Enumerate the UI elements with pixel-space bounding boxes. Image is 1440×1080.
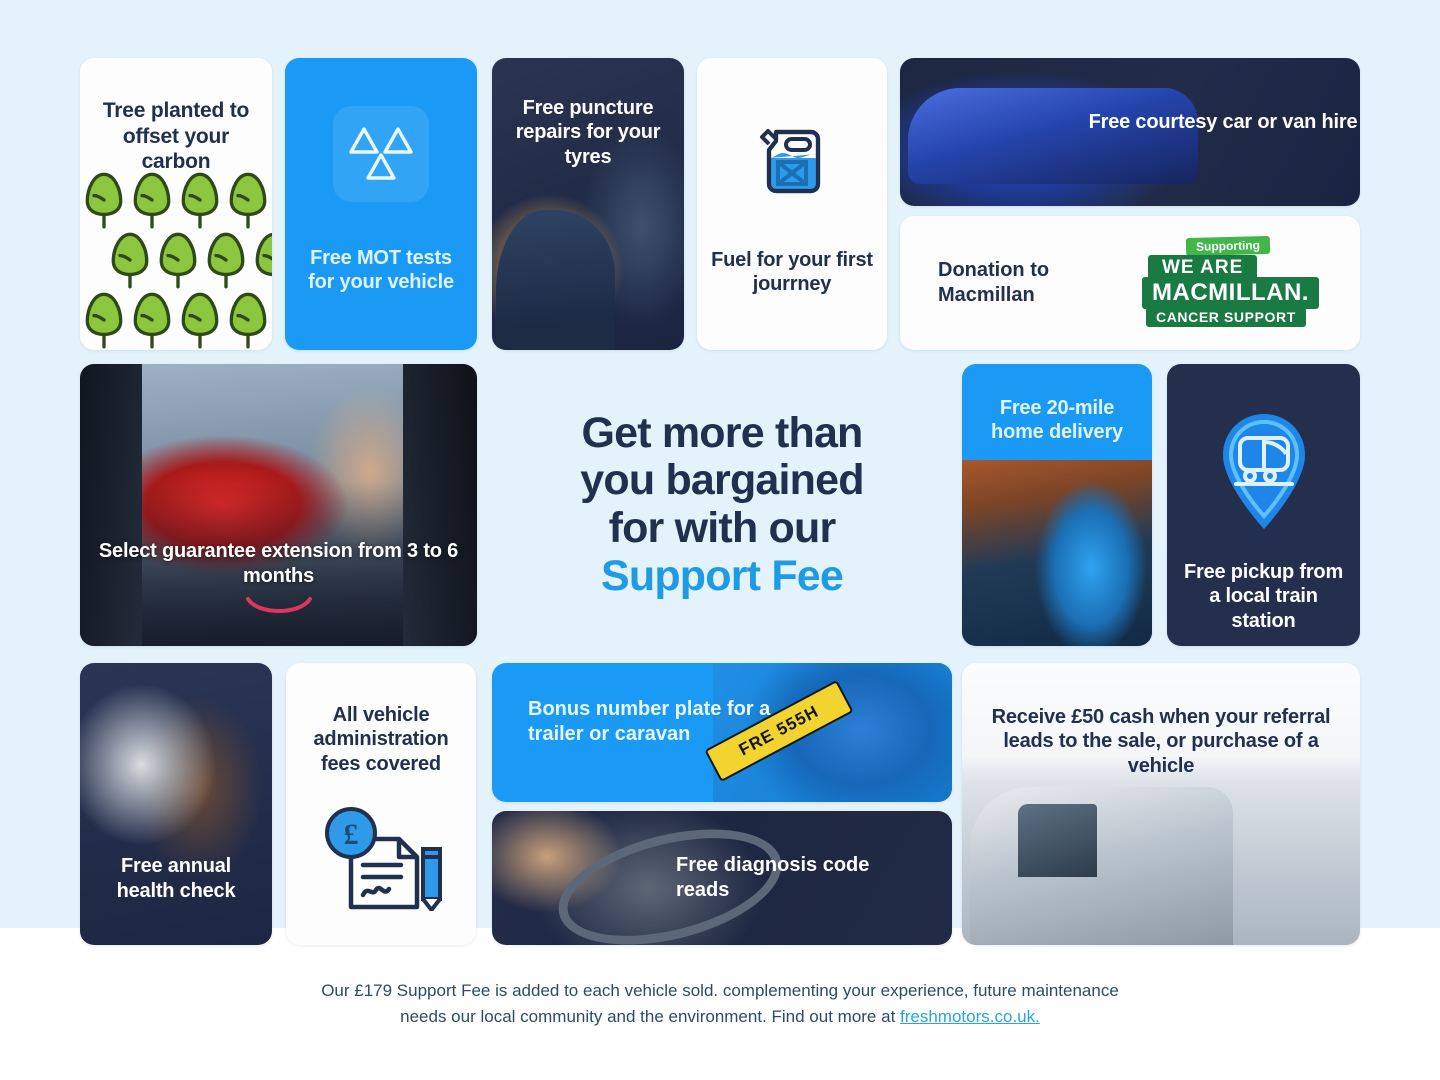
hero-line-1: Get more than (581, 409, 862, 457)
card-referral-cash[interactable]: Receive £50 cash when your referral lead… (962, 663, 1360, 945)
tree-icon (81, 171, 127, 229)
hero-headline: Get more than you bargained for with our… (492, 364, 952, 646)
card-home-delivery[interactable]: Free 20-mile home delivery (962, 364, 1152, 646)
card-tree-planted[interactable]: Tree planted to offset your carbon (80, 58, 272, 350)
tree-pattern (80, 170, 272, 350)
macmillan-logo: Supporting WE ARE MACMILLAN. CANCER SUPP… (1140, 235, 1340, 331)
card-courtesy-car[interactable]: Free courtesy car or van hire (900, 58, 1360, 206)
card-bonus-number-plate[interactable]: FRE 555H Bonus number plate for a traile… (492, 663, 952, 802)
card-train-station-pickup-label: Free pickup from a local train station (1167, 560, 1360, 633)
card-puncture-repairs-label: Free puncture repairs for your tyres (492, 96, 684, 169)
card-diagnosis-code-reads[interactable]: Free diagnosis code reads (492, 811, 952, 945)
mot-triangles-icon (347, 125, 415, 183)
card-fuel-label: Fuel for your first jourrney (697, 248, 887, 297)
card-fuel[interactable]: Fuel for your first jourrney (697, 58, 887, 350)
tree-icon (177, 291, 223, 349)
footer-line-1: Our £179 Support Fee is added to each ve… (321, 981, 1119, 1000)
tree-icon (177, 171, 223, 229)
card-guarantee-extension[interactable]: Select guarantee extension from 3 to 6 m… (80, 364, 477, 646)
card-free-mot-label: Free MOT tests for your vehicle (285, 246, 477, 295)
card-referral-cash-label: Receive £50 cash when your referral lead… (962, 705, 1360, 778)
card-macmillan-donation[interactable]: Donation to Macmillan Supporting WE ARE … (900, 216, 1360, 350)
mot-badge (333, 106, 429, 202)
svg-text:£: £ (344, 818, 359, 851)
tree-icon (129, 291, 175, 349)
card-annual-health-check-label: Free annual health check (80, 854, 272, 903)
tree-icon (81, 291, 127, 349)
card-tree-planted-label: Tree planted to offset your carbon (80, 98, 272, 175)
tree-icon (203, 231, 249, 289)
card-train-station-pickup[interactable]: Free pickup from a local train station (1167, 364, 1360, 646)
card-macmillan-donation-label: Donation to Macmillan (938, 258, 1118, 308)
card-admin-fees-label: All vehicle administration fees covered (286, 703, 476, 776)
swoosh-underline-icon (244, 596, 314, 618)
hero-accent-line: Support Fee (601, 552, 843, 600)
macmillan-logo-line3: CANCER SUPPORT (1146, 307, 1306, 327)
freshmotors-link[interactable]: freshmotors.co.uk. (900, 1007, 1040, 1026)
tree-icon (129, 171, 175, 229)
benefits-grid: Tree planted to offset your carbon Free … (0, 0, 1440, 1080)
tree-icon (107, 231, 153, 289)
footer-disclaimer: Our £179 Support Fee is added to each ve… (0, 978, 1440, 1031)
footer-line-2-prefix: needs our local community and the enviro… (400, 1007, 900, 1026)
card-diagnosis-code-reads-label: Free diagnosis code reads (676, 853, 916, 903)
tree-icon (251, 231, 272, 289)
card-puncture-repairs[interactable]: Free puncture repairs for your tyres (492, 58, 684, 350)
card-free-mot[interactable]: Free MOT tests for your vehicle (285, 58, 477, 350)
tree-icon (225, 171, 271, 229)
card-admin-fees[interactable]: All vehicle administration fees covered … (286, 663, 476, 945)
tree-icon (155, 231, 201, 289)
card-annual-health-check[interactable]: Free annual health check (80, 663, 272, 945)
home-delivery-photo (962, 460, 1152, 646)
card-courtesy-car-label: Free courtesy car or van hire (1078, 110, 1360, 134)
invoice-pound-pen-icon: £ (311, 791, 451, 911)
hero-line-3: for with our (609, 504, 836, 552)
macmillan-logo-supporting: Supporting (1186, 236, 1270, 256)
fuel-can-icon (759, 120, 825, 196)
card-guarantee-extension-label: Select guarantee extension from 3 to 6 m… (80, 539, 477, 588)
macmillan-logo-line2: MACMILLAN. (1142, 277, 1319, 309)
car-window (1018, 804, 1098, 877)
card-home-delivery-label: Free 20-mile home delivery (962, 396, 1152, 445)
tree-icon (225, 291, 271, 349)
hero-line-2: you bargained (580, 456, 863, 504)
train-location-pin-icon (1210, 408, 1318, 536)
